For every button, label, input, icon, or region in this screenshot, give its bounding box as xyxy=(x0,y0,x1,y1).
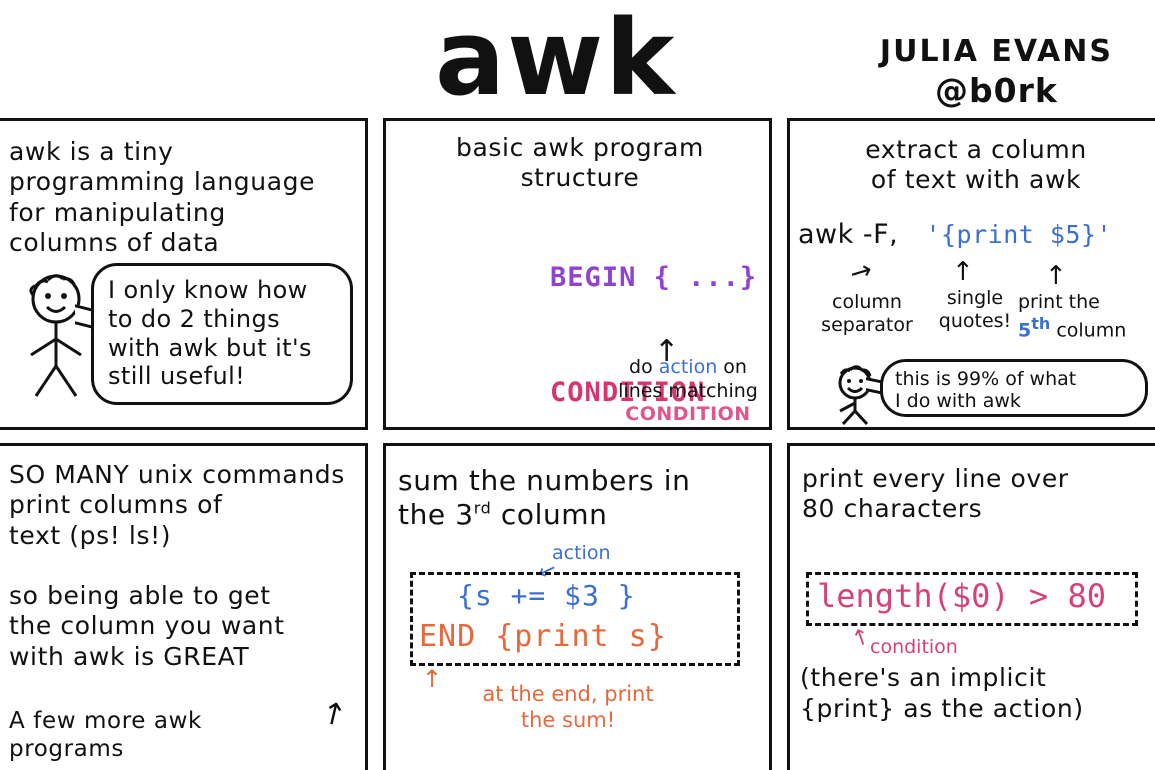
awk-extract-command: awk -F, '{print $5}' xyxy=(798,219,1155,250)
panel-sum-column: sum the numbers in the 3rd column action… xyxy=(383,443,772,770)
command-code-part: '{print $5}' xyxy=(925,220,1112,249)
annotation-single-quotes: single quotes! xyxy=(932,287,1018,333)
annotation-print-column: print the5th column xyxy=(1018,291,1155,342)
sum-heading-ordinal: 3 xyxy=(455,498,473,531)
long-lines-heading: print every line over 80 characters xyxy=(802,464,1152,525)
annotation-condition: condition xyxy=(870,636,958,658)
speech-bubble-text: I only know how to do 2 things with awk … xyxy=(108,276,348,391)
sum-code-box: {s += $3 } END {print s} xyxy=(410,572,740,666)
structure-annotation: do action on lines matching CONDITION xyxy=(600,356,772,427)
panel-structure: basic awk program structure BEGIN { ...}… xyxy=(383,118,772,430)
speech-bubble-intro: I only know how to do 2 things with awk … xyxy=(91,263,353,405)
annotation-print-b: column xyxy=(1050,319,1126,341)
implicit-print-note: (there's an implicit {print} as the acti… xyxy=(800,662,1152,724)
annotation-print-suffix: th xyxy=(1031,314,1050,333)
panel-intro: awk is a tiny programming language for m… xyxy=(0,118,368,430)
command-plain-part: awk -F, xyxy=(798,219,898,250)
annotation-action-word: action xyxy=(659,356,717,378)
comic-page: awk Julia Evans @b0rk awk is a tiny prog… xyxy=(0,0,1155,770)
panel-long-lines: print every line over 80 characters leng… xyxy=(787,443,1155,770)
length-code: length($0) > 80 xyxy=(817,577,1106,615)
sum-heading-suffix: rd xyxy=(474,499,492,518)
sum-heading: sum the numbers in the 3rd column xyxy=(398,464,764,532)
up-arrow-icon: ↑ xyxy=(952,257,974,287)
structure-heading: basic awk program structure xyxy=(404,133,756,194)
page-title: awk xyxy=(435,6,676,110)
sum-heading-b: column xyxy=(491,498,607,531)
byline: Julia Evans @b0rk xyxy=(880,34,1113,110)
annotation-condition-word: CONDITION xyxy=(625,403,750,425)
annotation-print-a: print the xyxy=(1018,291,1100,313)
intro-lead-text: awk is a tiny programming language for m… xyxy=(9,137,365,258)
keyword-begin: BEGIN { ...} xyxy=(550,262,757,293)
speech-bubble-extract: this is 99% of what I do with awk xyxy=(880,359,1148,417)
annotation-print-ordinal: 5 xyxy=(1018,319,1031,341)
stick-figure xyxy=(828,363,884,425)
author-handle: @b0rk xyxy=(880,71,1113,110)
why-paragraph-1: SO MANY unix commands print columns of t… xyxy=(9,460,365,551)
diagonal-arrow-icon: ↗ xyxy=(314,692,354,735)
annotation-action: action xyxy=(552,542,610,564)
sum-code-line-1: {s += $3 } xyxy=(457,579,636,612)
extract-heading: extract a column of text with awk xyxy=(804,135,1148,196)
panel-extract-column: extract a column of text with awk awk -F… xyxy=(787,118,1155,430)
annotation-column-separator: column separator xyxy=(806,291,928,337)
annotation-prefix: do xyxy=(629,356,659,378)
program-row: BEGIN { ...} xyxy=(412,221,762,336)
author-name: Julia Evans xyxy=(880,34,1113,69)
sum-annotation: at the end, print the sum! xyxy=(418,682,718,733)
speech-bubble-text: this is 99% of what I do with awk xyxy=(895,368,1143,413)
page-header: awk Julia Evans @b0rk xyxy=(0,0,1155,118)
sum-code-line-2: END {print s} xyxy=(419,619,667,654)
curved-arrow-icon: ↗ xyxy=(844,254,877,291)
length-code-box: length($0) > 80 xyxy=(806,572,1138,626)
up-arrow-icon: ↑ xyxy=(1045,261,1067,291)
stick-figure xyxy=(17,269,95,399)
panel-why-awk: SO MANY unix commands print columns of t… xyxy=(0,443,368,770)
more-programs-teaser: A few more awk programs xyxy=(9,708,319,764)
why-paragraph-2: so being able to get the column you want… xyxy=(9,581,365,672)
